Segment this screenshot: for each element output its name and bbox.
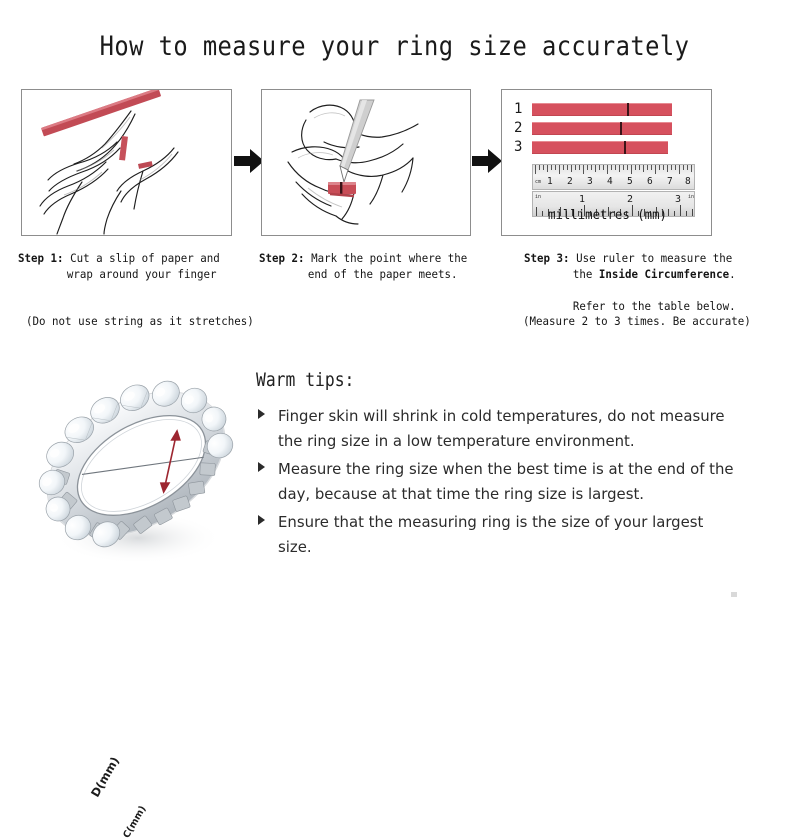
triangle-bullet-icon	[258, 515, 265, 525]
ruler-metric-label: 5	[627, 176, 633, 187]
ruler-metric-label: 4	[607, 176, 613, 187]
strip-row: 3	[514, 140, 672, 155]
step-2-line1: Mark the point where the	[305, 251, 468, 265]
paper-strip	[532, 141, 668, 154]
strip-mark	[624, 141, 626, 154]
ruler-metric-unit-tag: cm	[535, 179, 541, 185]
arrow-step2-to-step3	[472, 148, 502, 174]
warm-tip-text: Ensure that the measuring ring is the si…	[278, 510, 737, 560]
list-item: Ensure that the measuring ring is the si…	[256, 510, 756, 560]
strip-row: 1	[514, 102, 672, 117]
step-3-label: Step 3:	[524, 251, 570, 265]
ruler-metric-scale: cm	[532, 164, 695, 190]
ring-size-guide-infographic: How to measure your ring size accurately	[0, 0, 789, 606]
step-2-illustration-panel	[261, 89, 471, 236]
ruler-metric-label: 7	[667, 176, 673, 187]
step-3-line3: Refer to the table below.	[524, 298, 736, 314]
ruler-metric-label: 1	[547, 176, 553, 187]
ruler-imperial-label: 1	[579, 194, 585, 205]
ring-circumference-label: C(mm)	[121, 804, 148, 840]
triangle-bullet-icon	[258, 409, 265, 419]
step-2-label: Step 2:	[259, 251, 305, 265]
step-3-caption: Step 3: Use ruler to measure the the Ins…	[524, 250, 736, 314]
strip-number: 1	[514, 102, 532, 117]
ruler-imperial-unit-tag-right: in	[688, 194, 694, 200]
step-3-note: (Measure 2 to 3 times. Be accurate)	[523, 314, 751, 328]
eternity-ring-photo: D(mm) C(mm)	[22, 352, 250, 587]
ruler-imperial-unit-tag-left: in	[535, 194, 541, 200]
step-1-line1: Cut a slip of paper and	[64, 251, 220, 265]
step-2-line2: end of the paper meets.	[259, 266, 467, 282]
list-item: Measure the ring size when the best time…	[256, 457, 756, 507]
ruler-metric-label: 2	[567, 176, 573, 187]
inside-circumference-emphasis: Inside Circumference	[599, 267, 729, 281]
warm-tip-text: Measure the ring size when the best time…	[278, 457, 737, 507]
step-1-line2: wrap around your finger	[18, 266, 220, 282]
strip-number: 2	[514, 121, 532, 136]
page-title: How to measure your ring size accurately	[47, 31, 741, 62]
arrow-step1-to-step2	[234, 148, 264, 174]
hand-with-paper-strip-illustration	[22, 90, 231, 235]
step-3-illustration-panel: 1 2 3 cm	[501, 89, 712, 236]
step-1-note: (Do not use string as it stretches)	[26, 314, 254, 328]
strip-row: 2	[514, 121, 672, 136]
warm-tip-text: Finger skin will shrink in cold temperat…	[278, 404, 737, 454]
ring-diameter-label: D(mm)	[88, 754, 122, 799]
step-3-line2-prefix: the	[573, 267, 599, 281]
triangle-bullet-icon	[258, 462, 265, 472]
paper-strip	[532, 122, 672, 135]
ruler-metric-label: 6	[647, 176, 653, 187]
strip-number: 3	[514, 140, 532, 155]
ruler-unit-caption: millimetres (mm)	[507, 208, 707, 223]
step-1-caption: Step 1: Cut a slip of paper and wrap aro…	[18, 250, 220, 282]
step-1-label: Step 1:	[18, 251, 64, 265]
corner-artifact-mark	[731, 592, 737, 597]
ruler-metric-label: 3	[587, 176, 593, 187]
strip-mark	[620, 122, 622, 135]
warm-tips-list: Finger skin will shrink in cold temperat…	[256, 404, 756, 563]
step-3-line1: Use ruler to measure the	[570, 251, 733, 265]
strip-mark	[627, 103, 629, 116]
ruler-imperial-label: 3	[675, 194, 681, 205]
paper-strip	[532, 103, 672, 116]
step-2-caption: Step 2: Mark the point where the end of …	[259, 250, 467, 282]
step-3-line2-suffix: .	[729, 267, 736, 281]
step-3-line2: the Inside Circumference.	[524, 266, 736, 282]
step-1-illustration-panel	[21, 89, 232, 236]
hand-marking-paper-with-pen-illustration	[262, 90, 470, 235]
ruler-imperial-label: 2	[627, 194, 633, 205]
list-item: Finger skin will shrink in cold temperat…	[256, 404, 756, 454]
ruler-metric-label: 8	[685, 176, 691, 187]
warm-tips-heading: Warm tips:	[256, 369, 354, 391]
measured-paper-strips: 1 2 3	[514, 102, 672, 159]
